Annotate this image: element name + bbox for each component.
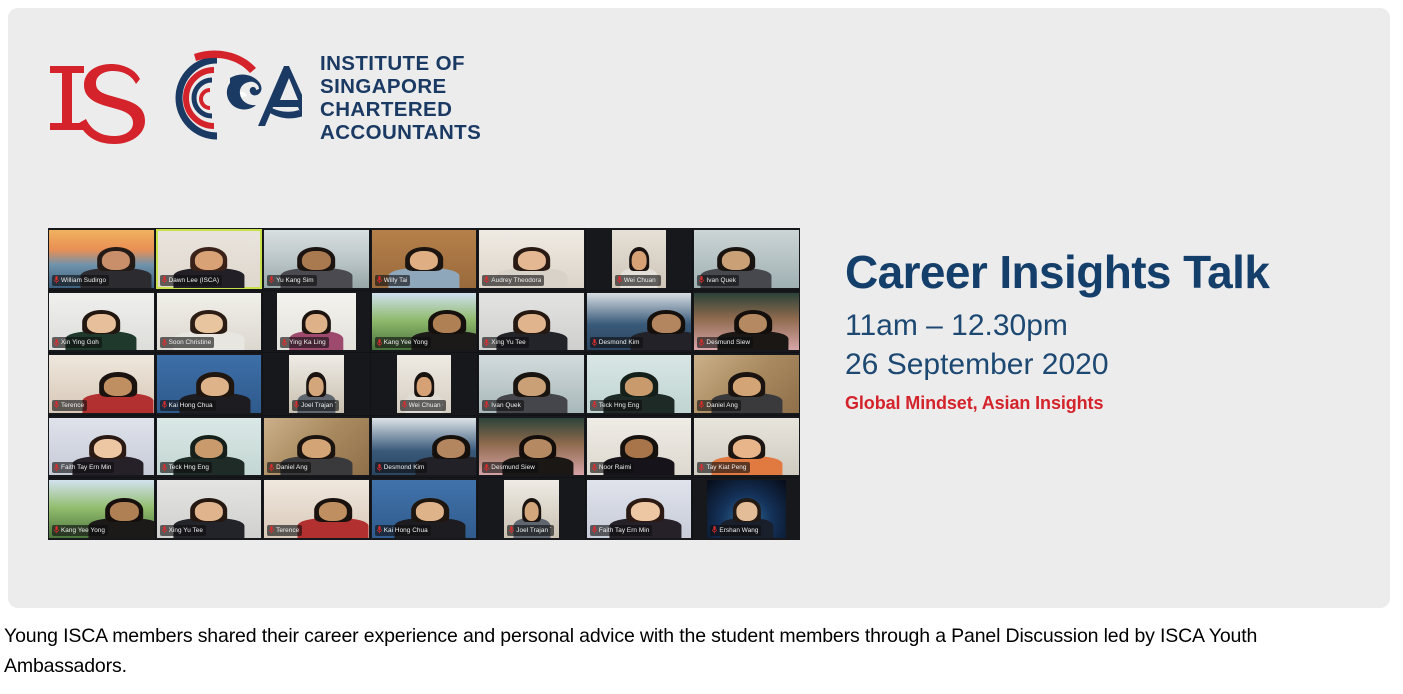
participant-name-text: Xing Yu Tee <box>169 526 203 535</box>
participant-video: Kang Yee Yong <box>372 293 477 351</box>
participant-tile[interactable]: Joel Trajan Tay J... <box>478 478 585 540</box>
participant-tile[interactable]: Ying Ka Ling <box>263 291 370 353</box>
participant-name-label: Daniel Ang <box>267 462 310 473</box>
participant-name-text: Ying Ka Ling <box>289 338 326 347</box>
participant-video: Teck Hng Eng <box>587 355 692 413</box>
participant-tile[interactable]: Ivan Quek <box>693 228 800 290</box>
participant-video: Desmond Kim <box>587 293 692 351</box>
participant-video: Wei Chuan Quek <box>612 230 667 288</box>
figure-face <box>104 377 132 396</box>
figure-face <box>417 377 432 396</box>
participant-video: Joel Trajan Tay J... <box>289 355 344 413</box>
participant-name-label: Ying Ka Ling <box>280 337 329 348</box>
participant-name-text: Joel Trajan Tay J... <box>301 401 336 410</box>
figure-face <box>652 314 680 333</box>
figure-face <box>524 439 552 458</box>
participant-tile[interactable]: Ershan Wang <box>693 478 800 540</box>
participant-name-label: Desmund Siew <box>482 462 538 473</box>
participant-name-text: Faith Tay Ern Min <box>61 463 111 472</box>
microphone-icon <box>162 464 167 472</box>
participant-video: Soon Christine <box>157 293 262 351</box>
participant-name-text: Desmond Kim <box>384 463 425 472</box>
microphone-icon <box>699 339 704 347</box>
participant-name-text: Ivan Quek <box>706 276 736 285</box>
participant-video: William Sudirgo <box>49 230 154 288</box>
microphone-icon <box>712 526 717 534</box>
participant-name-label: Dawn Lee (ISCA) <box>160 275 222 286</box>
participant-video: Ivan Quek <box>479 355 584 413</box>
microphone-icon <box>269 276 274 284</box>
participant-video: Desmund Siew <box>694 293 799 351</box>
participant-name-label: Ivan Quek <box>697 275 739 286</box>
participant-name-label: Yu Kang Sim <box>267 275 317 286</box>
event-date: 26 September 2020 <box>845 345 1390 384</box>
participant-name-text: Wei Chuan Quek <box>624 276 659 285</box>
participant-tile[interactable]: Soon Christine <box>156 291 263 353</box>
participant-tile[interactable]: Ivan Quek <box>478 353 585 415</box>
participant-name-text: Soon Christine <box>169 338 212 347</box>
microphone-icon <box>699 464 704 472</box>
participant-video: Ershan Wang <box>707 480 786 538</box>
logo-line-4: ACCOUNTANTS <box>320 121 481 144</box>
participant-video: Terence <box>264 480 369 538</box>
microphone-icon <box>377 339 382 347</box>
figure-face <box>739 314 767 333</box>
participant-name-label: Wei Chuan Quek <box>615 275 662 286</box>
participant-name-text: Desmond Kim <box>599 338 640 347</box>
participant-video: Dawn Lee (ISCA) <box>157 230 262 288</box>
participant-tile[interactable]: Dawn Lee (ISCA) <box>156 228 263 290</box>
participant-video: Daniel Ang <box>694 355 799 413</box>
participant-video: Xing Yu Tee <box>157 480 262 538</box>
participant-video: Daniel Ang <box>264 418 369 476</box>
microphone-icon <box>54 276 59 284</box>
participant-name-text: Kang Yee Yong <box>61 526 105 535</box>
participant-name-text: Audrey Theodora <box>491 276 541 285</box>
figure-face <box>632 251 647 270</box>
microphone-icon <box>282 339 287 347</box>
participant-tile[interactable]: Xing Yu Tee <box>478 291 585 353</box>
isca-logomark-icon <box>44 48 302 148</box>
microphone-icon <box>162 526 167 534</box>
microphone-icon <box>402 401 407 409</box>
participant-name-label: Joel Trajan Tay J... <box>292 400 339 411</box>
participant-name-label: Faith Tay Ern Min <box>590 525 652 536</box>
participant-name-text: William Sudirgo <box>61 276 106 285</box>
microphone-icon <box>592 526 597 534</box>
participant-name-label: Desmond Kim <box>590 337 643 348</box>
participant-video: Desmond Kim <box>372 418 477 476</box>
figure-face <box>195 502 223 521</box>
participant-tile[interactable]: Joel Trajan Tay J... <box>263 353 370 415</box>
participant-tile[interactable]: Daniel Ang <box>693 353 800 415</box>
microphone-icon <box>699 401 704 409</box>
participant-name-label: Soon Christine <box>160 337 215 348</box>
participant-video: Desmund Siew <box>479 418 584 476</box>
participant-name-text: Teck Hng Eng <box>599 401 639 410</box>
participant-name-label: Audrey Theodora <box>482 275 544 286</box>
participant-video: Joel Trajan Tay J... <box>504 480 559 538</box>
event-tagline: Global Mindset, Asian Insights <box>845 393 1390 414</box>
figure-face <box>625 439 653 458</box>
figure-face <box>195 251 223 270</box>
image-caption: Young ISCA members shared their career e… <box>4 622 1364 681</box>
participant-name-text: Faith Tay Ern Min <box>599 526 649 535</box>
microphone-icon <box>592 339 597 347</box>
participant-name-text: Willy Tai <box>384 276 408 285</box>
microphone-icon <box>269 464 274 472</box>
participant-name-label: Faith Tay Ern Min <box>52 462 114 473</box>
participant-tile[interactable]: Kang Yee Yong <box>48 478 155 540</box>
microphone-icon <box>162 339 167 347</box>
participant-tile[interactable]: Teck Hng Eng <box>156 416 263 478</box>
participant-tile[interactable]: Kang Yee Yong <box>371 291 478 353</box>
figure-face <box>733 377 761 396</box>
page-root: INSTITUTE OF SINGAPORE CHARTERED ACCOUNT… <box>0 0 1403 694</box>
participant-name-label: Noor Raimi <box>590 462 634 473</box>
participant-tile[interactable]: Desmond Kim <box>586 291 693 353</box>
microphone-icon <box>377 464 382 472</box>
participant-tile[interactable]: Faith Tay Ern Min <box>48 416 155 478</box>
figure-face <box>110 502 138 521</box>
participant-name-text: Teck Hng Eng <box>169 463 209 472</box>
participant-tile[interactable]: Kai Hong Chua <box>371 478 478 540</box>
microphone-icon <box>484 276 489 284</box>
participant-name-label: Tay Kiat Peng <box>697 462 749 473</box>
isca-logo-wordmark: INSTITUTE OF SINGAPORE CHARTERED ACCOUNT… <box>318 52 481 145</box>
participant-name-label: Joel Trajan Tay J... <box>507 525 554 536</box>
participant-tile[interactable]: Daniel Ang <box>263 416 370 478</box>
participant-name-label: Ershan Wang <box>710 525 761 536</box>
participant-name-text: Kai Hong Chua <box>384 526 428 535</box>
figure-face <box>319 502 347 521</box>
microphone-icon <box>484 339 489 347</box>
participant-name-text: Desmund Siew <box>706 338 750 347</box>
participant-name-label: Daniel Ang <box>697 400 740 411</box>
microphone-icon <box>509 526 514 534</box>
participant-name-text: Noor Raimi <box>599 463 631 472</box>
participant-video: Xin Ying Goh <box>49 293 154 351</box>
participant-video: Faith Tay Ern Min <box>587 480 692 538</box>
participant-name-label: Xing Yu Tee <box>482 337 528 348</box>
participant-tile[interactable]: Kai Hong Chua <box>156 353 263 415</box>
participant-name-text: Dawn Lee (ISCA) <box>169 276 219 285</box>
microphone-icon <box>592 464 597 472</box>
figure-face <box>195 314 223 333</box>
microphone-icon <box>294 401 299 409</box>
participant-tile[interactable]: Tay Kiat Peng <box>693 416 800 478</box>
participant-name-label: Desmond Kim <box>375 462 428 473</box>
microphone-icon <box>54 464 59 472</box>
participant-name-label: Willy Tai <box>375 275 411 286</box>
microphone-icon <box>162 276 167 284</box>
participant-name-text: Wei Chuan Quek <box>409 401 444 410</box>
participant-video: Faith Tay Ern Min <box>49 418 154 476</box>
figure-face <box>195 439 223 458</box>
figure-face <box>437 439 465 458</box>
participant-video: Terence <box>49 355 154 413</box>
participant-name-label: Xing Yu Tee <box>160 525 206 536</box>
participant-name-text: Terence <box>276 526 299 535</box>
microphone-icon <box>377 526 382 534</box>
figure-face <box>87 314 115 333</box>
participant-tile[interactable]: Xing Yu Tee <box>156 478 263 540</box>
microphone-icon <box>269 526 274 534</box>
participant-video: Kang Yee Yong <box>49 480 154 538</box>
participant-tile[interactable]: Desmund Siew <box>478 416 585 478</box>
figure-face <box>302 439 330 458</box>
participant-name-text: Joel Trajan Tay J... <box>516 526 551 535</box>
microphone-icon <box>592 401 597 409</box>
microphone-icon <box>54 401 59 409</box>
participant-name-text: Yu Kang Sim <box>276 276 314 285</box>
participant-video: Xing Yu Tee <box>479 293 584 351</box>
microphone-icon <box>54 526 59 534</box>
participant-name-label: Teck Hng Eng <box>590 400 642 411</box>
figure-face <box>517 251 545 270</box>
microphone-icon <box>54 339 59 347</box>
logo-line-2: SINGAPORE <box>320 75 481 98</box>
participant-name-label: Xin Ying Goh <box>52 337 102 348</box>
participant-name-label: Desmund Siew <box>697 337 753 348</box>
participant-tile[interactable]: Xin Ying Goh <box>48 291 155 353</box>
figure-face <box>524 502 539 521</box>
participant-tile[interactable]: Desmond Kim <box>371 416 478 478</box>
logo-line-3: CHARTERED <box>320 98 481 121</box>
participant-tile[interactable]: Terence <box>263 478 370 540</box>
participant-name-label: Kang Yee Yong <box>52 525 108 536</box>
participant-name-text: Kai Hong Chua <box>169 401 213 410</box>
figure-face <box>201 377 229 396</box>
participant-tile[interactable]: Wei Chuan Quek <box>586 228 693 290</box>
participant-tile[interactable]: William Sudirgo <box>48 228 155 290</box>
participant-video: Yu Kang Sim <box>264 230 369 288</box>
participant-name-text: Xin Ying Goh <box>61 338 99 347</box>
participant-video: Ying Ka Ling <box>277 293 356 351</box>
figure-face <box>93 439 121 458</box>
microphone-icon <box>162 401 167 409</box>
participant-name-text: Xing Yu Tee <box>491 338 525 347</box>
figure-face <box>736 502 757 521</box>
participant-name-label: Kang Yee Yong <box>375 337 431 348</box>
figure-face <box>410 251 438 270</box>
figure-face <box>306 314 327 333</box>
figure-face <box>102 251 130 270</box>
zoom-gallery-grid: William SudirgoDawn Lee (ISCA)Yu Kang Si… <box>48 228 800 540</box>
figure-face <box>722 251 750 270</box>
figure-face <box>625 377 653 396</box>
participant-video: Kai Hong Chua <box>157 355 262 413</box>
participant-name-text: Terence <box>61 401 84 410</box>
event-time: 11am – 12.30pm <box>845 306 1390 345</box>
participant-name-label: Teck Hng Eng <box>160 462 212 473</box>
participant-tile[interactable]: Wei Chuan Quek <box>371 353 478 415</box>
participant-video: Audrey Theodora <box>479 230 584 288</box>
participant-tile[interactable]: Terence <box>48 353 155 415</box>
microphone-icon <box>699 276 704 284</box>
figure-face <box>517 314 545 333</box>
microphone-icon <box>484 401 489 409</box>
participant-name-text: Daniel Ang <box>706 401 737 410</box>
participant-name-label: William Sudirgo <box>52 275 109 286</box>
figure-face <box>433 314 461 333</box>
participant-tile[interactable]: Yu Kang Sim <box>263 228 370 290</box>
isca-logo: INSTITUTE OF SINGAPORE CHARTERED ACCOUNT… <box>44 48 481 148</box>
figure-face <box>309 377 324 396</box>
participant-video: Willy Tai <box>372 230 477 288</box>
participant-video: Ivan Quek <box>694 230 799 288</box>
participant-video: Noor Raimi <box>587 418 692 476</box>
participant-tile[interactable]: Willy Tai <box>371 228 478 290</box>
participant-name-label: Ivan Quek <box>482 400 524 411</box>
logo-line-1: INSTITUTE OF <box>320 52 481 75</box>
participant-name-text: Daniel Ang <box>276 463 307 472</box>
participant-tile[interactable]: Desmund Siew <box>693 291 800 353</box>
participant-tile[interactable]: Teck Hng Eng <box>586 353 693 415</box>
event-title: Career Insights Talk <box>845 248 1390 296</box>
participant-name-label: Kai Hong Chua <box>160 400 216 411</box>
participant-tile[interactable]: Audrey Theodora <box>478 228 585 290</box>
participant-name-text: Tay Kiat Peng <box>706 463 746 472</box>
participant-name-label: Kai Hong Chua <box>375 525 431 536</box>
participant-tile[interactable]: Noor Raimi <box>586 416 693 478</box>
participant-video: Teck Hng Eng <box>157 418 262 476</box>
participant-name-label: Terence <box>52 400 87 411</box>
figure-face <box>733 439 761 458</box>
microphone-icon <box>484 464 489 472</box>
participant-video: Wei Chuan Quek <box>397 355 452 413</box>
participant-tile[interactable]: Faith Tay Ern Min <box>586 478 693 540</box>
participant-name-text: Ershan Wang <box>719 526 758 535</box>
participant-name-label: Wei Chuan Quek <box>400 400 447 411</box>
figure-face <box>517 377 545 396</box>
participant-video: Kai Hong Chua <box>372 480 477 538</box>
figure-face <box>302 251 330 270</box>
event-title-block: Career Insights Talk 11am – 12.30pm 26 S… <box>845 248 1390 414</box>
participant-name-text: Kang Yee Yong <box>384 338 428 347</box>
microphone-icon <box>617 276 622 284</box>
participant-name-text: Desmund Siew <box>491 463 535 472</box>
microphone-icon <box>377 276 382 284</box>
participant-video: Tay Kiat Peng <box>694 418 799 476</box>
participant-name-label: Terence <box>267 525 302 536</box>
participant-name-text: Ivan Quek <box>491 401 521 410</box>
figure-face <box>631 502 659 521</box>
figure-face <box>416 502 444 521</box>
